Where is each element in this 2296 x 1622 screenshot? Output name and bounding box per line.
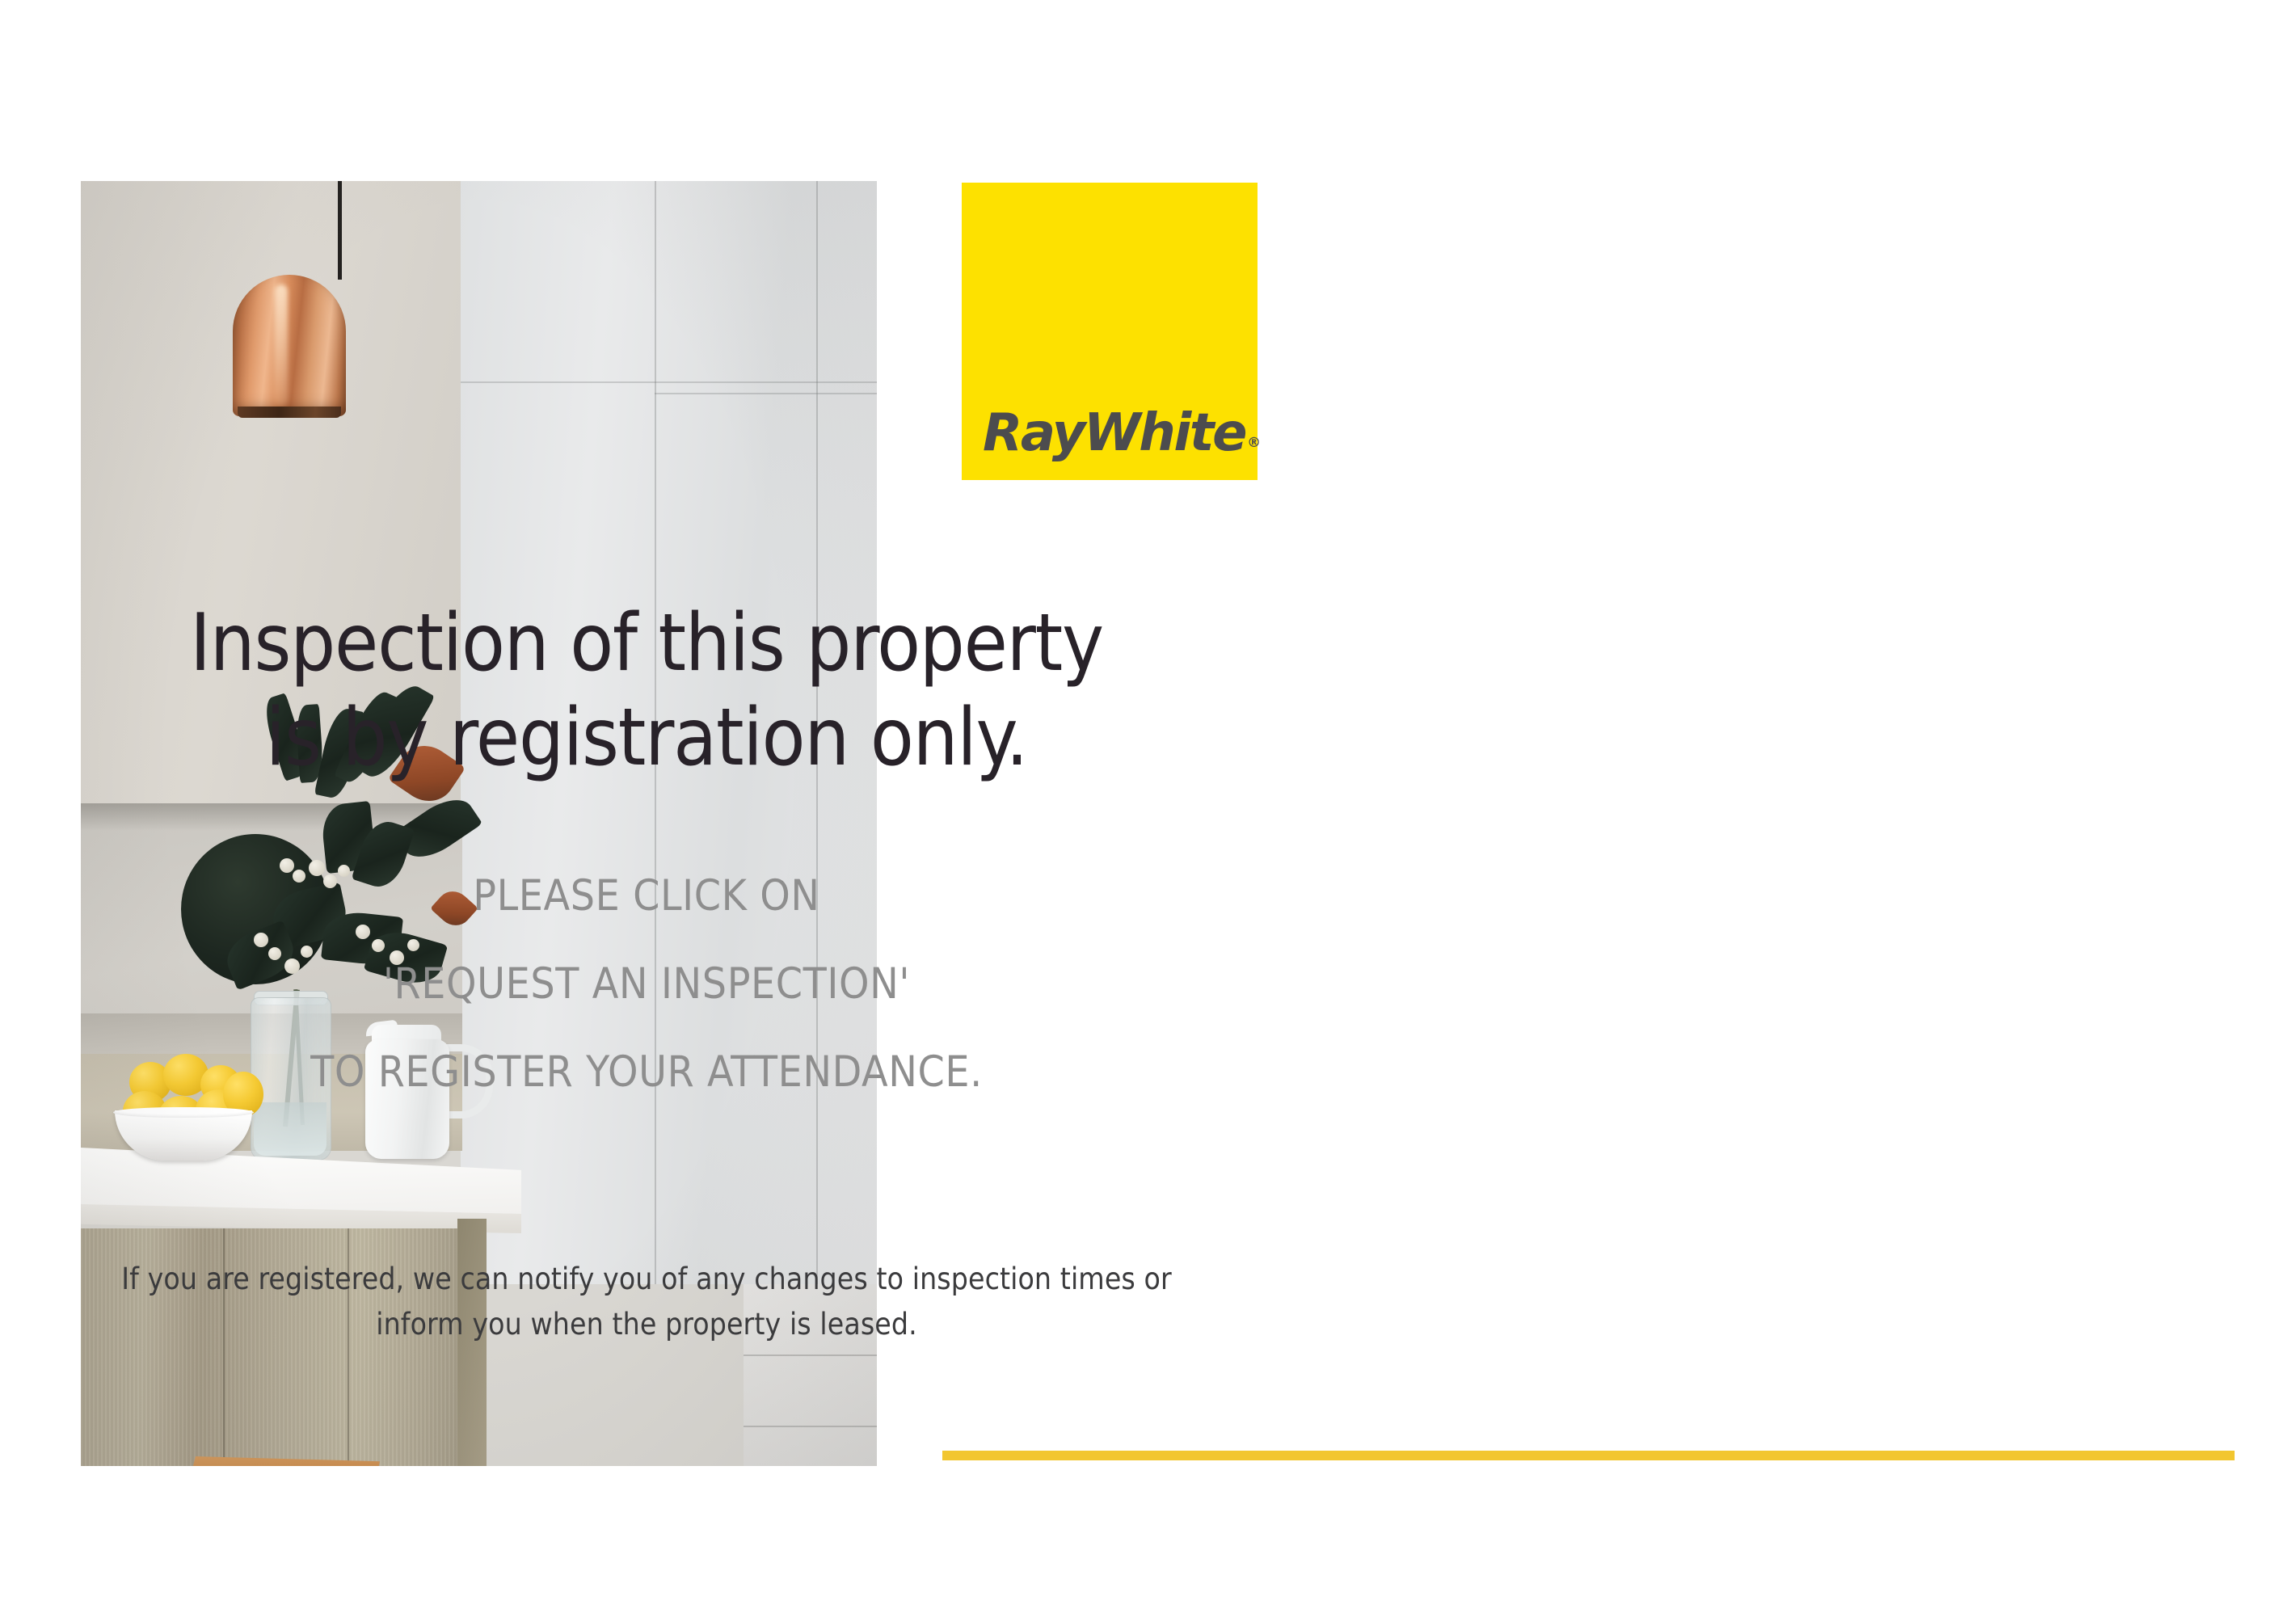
pendant-lamp-opening: [238, 407, 341, 418]
page-title: Inspection of this property is by regist…: [0, 596, 1293, 786]
cabinet-seam-horizontal: [461, 381, 877, 383]
ray-white-logo[interactable]: RayWhite®: [962, 183, 1258, 480]
floor-tile-line: [744, 1426, 877, 1427]
pendant-lamp-cord: [338, 181, 342, 280]
ray-white-wordmark: RayWhite®: [983, 407, 1261, 459]
yellow-divider-rule: [942, 1451, 2235, 1460]
instruction-line-1: PLEASE CLICK ON: [0, 874, 1293, 917]
registered-trademark-icon: ®: [1247, 435, 1261, 451]
inspection-notice-flyer: RayWhite® Inspection of this property is…: [0, 0, 2296, 1622]
pendant-lamp-highlight: [275, 284, 288, 406]
instruction-line-2: 'REQUEST AN INSPECTION': [0, 963, 1293, 1005]
berry-cluster: [309, 860, 325, 876]
cabinet-seam-horizontal: [655, 393, 877, 394]
fruit-bowl-rim: [113, 1107, 254, 1118]
registration-note: If you are registered, we can notify you…: [0, 1257, 1293, 1347]
berry-cluster: [280, 858, 294, 873]
instruction-line-3: TO REGISTER YOUR ATTENDANCE.: [0, 1051, 1293, 1093]
ray-white-wordmark-text: RayWhite: [983, 403, 1245, 463]
instruction-block: PLEASE CLICK ON 'REQUEST AN INSPECTION' …: [0, 874, 1293, 1093]
floor-tile-line: [744, 1354, 877, 1356]
vase-water: [254, 1102, 326, 1156]
copper-pendant-lamp: [233, 275, 346, 416]
